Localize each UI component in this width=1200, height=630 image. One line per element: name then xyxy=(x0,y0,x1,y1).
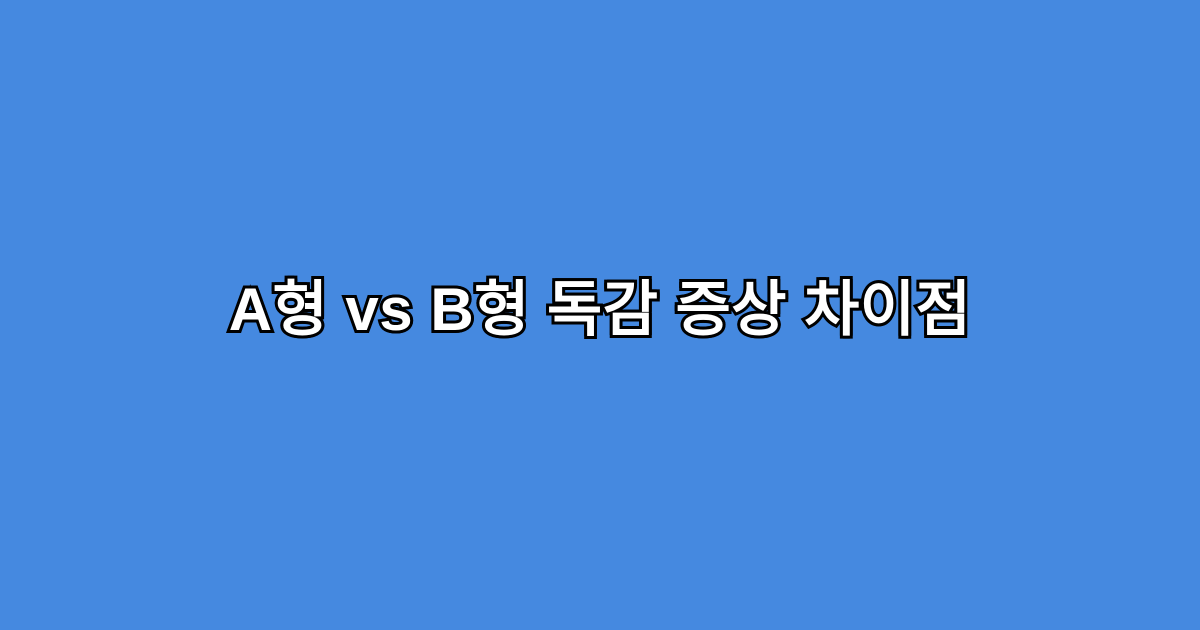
banner-canvas: A형 vs B형 독감 증상 차이점 xyxy=(0,0,1200,630)
headline-block: A형 vs B형 독감 증상 차이점 xyxy=(0,277,1200,343)
page-title: A형 vs B형 독감 증상 차이점 xyxy=(189,277,1012,343)
